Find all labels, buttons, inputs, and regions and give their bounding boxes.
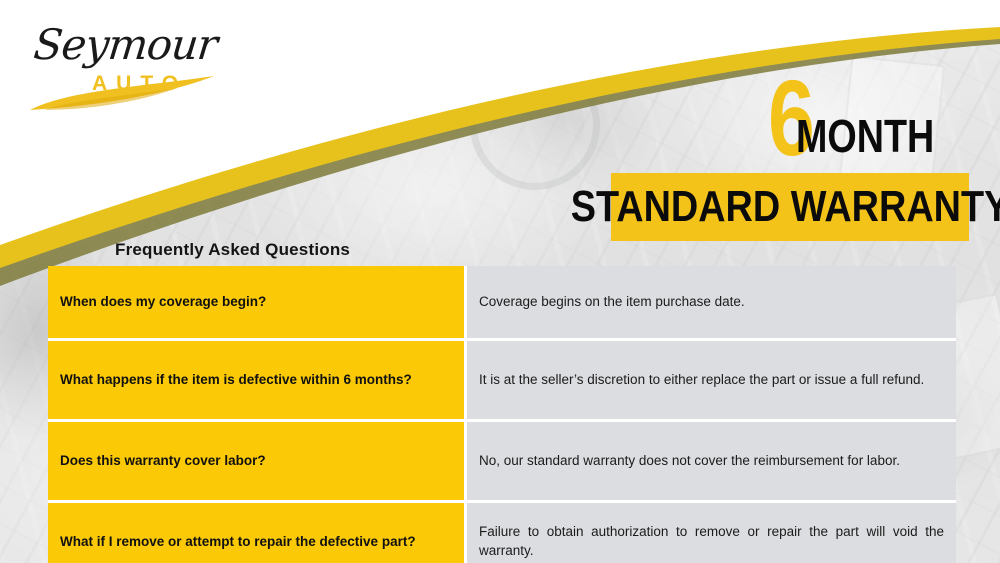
faq-question: What happens if the item is defective wi…: [48, 341, 467, 422]
logo-wordmark: Seymour: [31, 20, 219, 69]
warranty-headline: 6 MONTH STANDARD WARRANTY: [600, 52, 970, 252]
warranty-slide: Seymour AUTO 6 MONTH STANDARD WARRANTY F…: [0, 0, 1000, 563]
brand-logo: Seymour AUTO: [20, 14, 230, 110]
table-row: Does this warranty cover labor? No, our …: [48, 422, 956, 503]
faq-table: When does my coverage begin? Coverage be…: [48, 266, 956, 563]
table-row: What if I remove or attempt to repair th…: [48, 503, 956, 563]
faq-question: When does my coverage begin?: [48, 266, 467, 341]
warranty-duration: 6 MONTH: [768, 52, 965, 164]
faq-answer: Failure to obtain authorization to remov…: [467, 503, 956, 563]
table-row: When does my coverage begin? Coverage be…: [48, 266, 956, 341]
logo-subtitle: AUTO: [92, 72, 187, 96]
standard-warranty-banner: STANDARD WARRANTY: [611, 173, 969, 241]
faq-question: What if I remove or attempt to repair th…: [48, 503, 467, 563]
table-row: What happens if the item is defective wi…: [48, 341, 956, 422]
warranty-period-label: MONTH: [796, 113, 934, 159]
faq-answer: It is at the seller’s discretion to eith…: [467, 341, 956, 422]
faq-answer: Coverage begins on the item purchase dat…: [467, 266, 956, 341]
standard-warranty-label: STANDARD WARRANTY: [571, 185, 1000, 229]
faq-question: Does this warranty cover labor?: [48, 422, 467, 503]
faq-answer: No, our standard warranty does not cover…: [467, 422, 956, 503]
faq-heading: Frequently Asked Questions: [115, 240, 350, 260]
